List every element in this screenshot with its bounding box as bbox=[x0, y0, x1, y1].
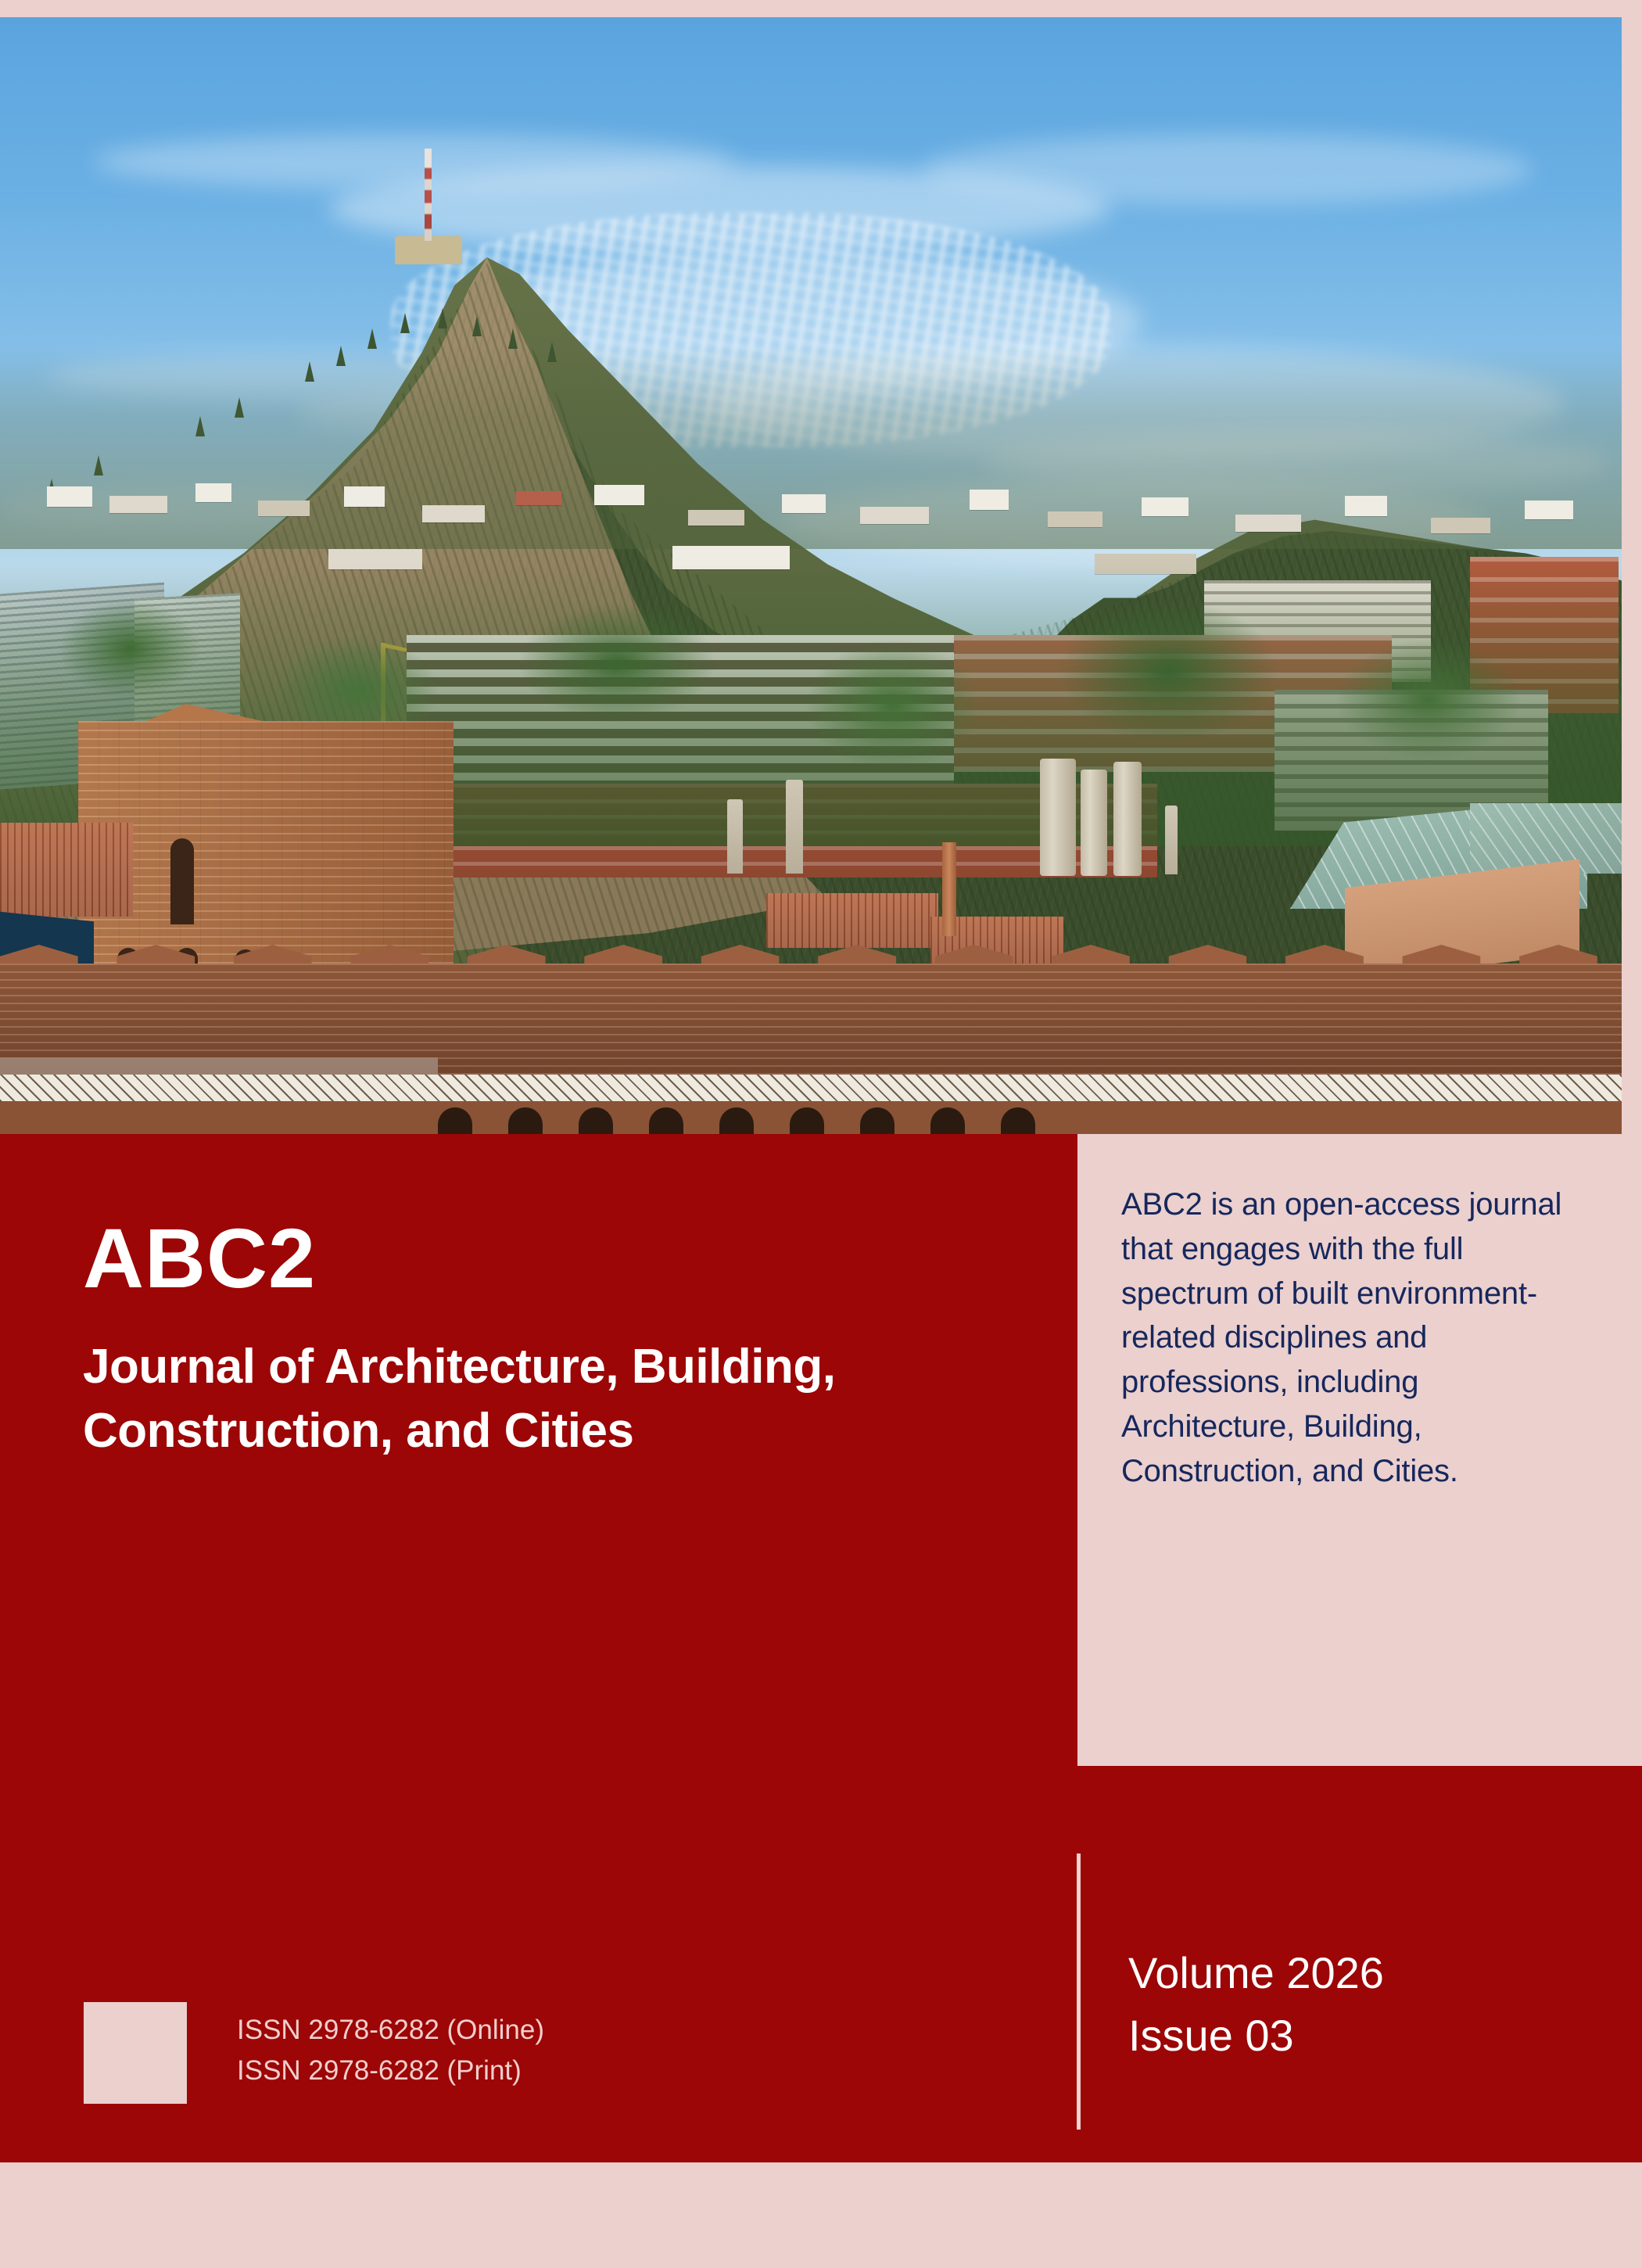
journal-scope-text: ABC2 is an open-access journal that enga… bbox=[1121, 1182, 1597, 1494]
distant-building bbox=[782, 494, 826, 513]
terracotta-roof bbox=[0, 823, 133, 917]
issue-label: Issue 03 bbox=[1128, 2004, 1384, 2067]
distant-building bbox=[1235, 515, 1301, 532]
page-border-bottom bbox=[0, 2162, 1642, 2268]
distant-building bbox=[516, 491, 561, 505]
terracotta-roof bbox=[766, 893, 938, 948]
issn-color-swatch bbox=[84, 2002, 187, 2104]
journal-scope-panel: ABC2 is an open-access journal that enga… bbox=[1077, 1134, 1642, 1766]
distant-building bbox=[47, 486, 92, 507]
distant-building bbox=[258, 501, 310, 516]
arch-opening bbox=[860, 1107, 894, 1134]
arch-opening bbox=[719, 1107, 754, 1134]
rooftop-chimney bbox=[727, 799, 743, 874]
arch-opening bbox=[438, 1107, 472, 1134]
ceramic-frieze-band bbox=[0, 1075, 1623, 1101]
arch-opening bbox=[579, 1107, 613, 1134]
distant-building bbox=[1142, 497, 1188, 516]
distant-building bbox=[422, 505, 485, 522]
issn-print: ISSN 2978-6282 (Print) bbox=[237, 2051, 544, 2091]
distant-building bbox=[594, 485, 644, 505]
edition-block: Volume 2026 Issue 03 bbox=[1128, 1942, 1384, 2066]
brick-smokestack bbox=[942, 842, 956, 936]
distant-building bbox=[109, 496, 167, 513]
distant-building bbox=[1431, 518, 1490, 533]
distant-building bbox=[860, 507, 929, 524]
distant-building bbox=[1345, 496, 1387, 516]
issn-block: ISSN 2978-6282 (Online) ISSN 2978-6282 (… bbox=[84, 2002, 544, 2104]
arch-opening bbox=[649, 1107, 683, 1134]
arcade-band bbox=[0, 1101, 1623, 1134]
arch-opening bbox=[508, 1107, 543, 1134]
distant-building bbox=[688, 510, 744, 526]
conifer-tree bbox=[400, 313, 410, 333]
rooftop-water-tank bbox=[1113, 762, 1142, 876]
page-border-top bbox=[0, 0, 1642, 17]
conifer-tree bbox=[438, 308, 447, 328]
masthead: ABC2 Journal of Architecture, Building, … bbox=[83, 1216, 943, 1464]
issn-lines: ISSN 2978-6282 (Online) ISSN 2978-6282 (… bbox=[237, 2002, 544, 2091]
page-border-right bbox=[1622, 0, 1642, 1140]
volume-divider-rule bbox=[1077, 1854, 1081, 2130]
volume-label: Volume 2026 bbox=[1128, 1942, 1384, 2004]
telecom-tower-icon bbox=[425, 149, 432, 241]
distant-building bbox=[970, 490, 1009, 510]
issn-online: ISSN 2978-6282 (Online) bbox=[237, 2010, 544, 2051]
rooftop-water-tank bbox=[1040, 759, 1076, 876]
distant-building bbox=[195, 483, 231, 502]
arch-opening bbox=[790, 1107, 824, 1134]
arch-opening bbox=[930, 1107, 965, 1134]
distant-building bbox=[1048, 511, 1102, 527]
rooftop-chimney bbox=[786, 780, 803, 874]
distant-town-band bbox=[0, 346, 1623, 549]
distant-building bbox=[344, 486, 385, 507]
rooftop-chimney bbox=[1165, 806, 1178, 874]
cloud-wisp bbox=[923, 135, 1533, 205]
tower-window bbox=[170, 838, 194, 924]
rooftop-water-tank bbox=[1081, 770, 1107, 876]
cover-photograph bbox=[0, 17, 1623, 1134]
journal-cover: ABC2 is an open-access journal that enga… bbox=[0, 0, 1642, 2268]
arch-opening bbox=[1001, 1107, 1035, 1134]
journal-title: Journal of Architecture, Building, Const… bbox=[83, 1335, 943, 1464]
distant-building bbox=[1525, 501, 1573, 519]
journal-acronym: ABC2 bbox=[83, 1216, 943, 1301]
conifer-tree bbox=[472, 316, 482, 336]
